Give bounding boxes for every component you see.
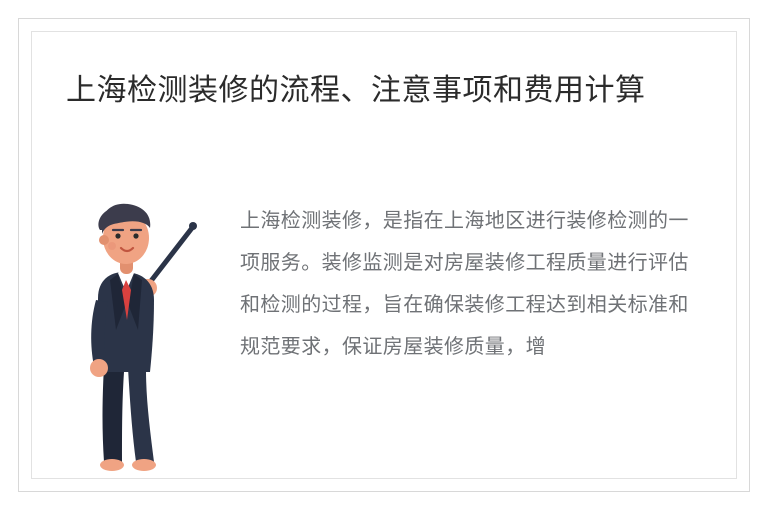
- businessman-with-pointer-illustration: [66, 180, 226, 480]
- article-body-text: 上海检测装修，是指在上海地区进行装修检测的一项服务。装修监测是对房屋装修工程质量…: [240, 200, 700, 368]
- article-card: 上海检测装修的流程、注意事项和费用计算: [18, 18, 750, 492]
- article-card-inner: 上海检测装修的流程、注意事项和费用计算: [31, 31, 737, 479]
- article-content: 上海检测装修，是指在上海地区进行装修检测的一项服务。装修监测是对房屋装修工程质量…: [66, 180, 712, 480]
- page-title: 上海检测装修的流程、注意事项和费用计算: [66, 68, 706, 114]
